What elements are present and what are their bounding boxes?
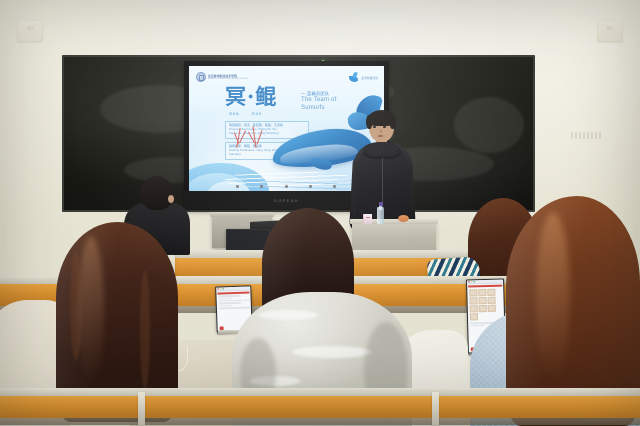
water-bottle[interactable]	[377, 202, 384, 224]
orange-object	[398, 215, 409, 222]
school-seal-icon	[196, 72, 206, 82]
slide-logo-left: 北京邮电职业技术学院 BEIJING COLLEGE OF MECHANICAL…	[196, 72, 248, 82]
desk-divider	[432, 392, 439, 426]
bottle-cap[interactable]	[379, 202, 383, 206]
student-mid-left-head	[140, 176, 174, 210]
wall-vent-icon	[565, 131, 607, 140]
wall-sign-right-label: 出口	[597, 26, 623, 30]
classroom-photo: 出口 出口 北京邮电职业技术学院 BEIJING C	[0, 0, 640, 426]
wall-sign-left-label: 出口	[17, 26, 43, 30]
slide-logo-right: 蓝海科教创新	[348, 72, 378, 83]
display-control-buttons[interactable]	[236, 184, 336, 189]
presenter-hood	[363, 142, 401, 159]
presenter-mouth	[378, 135, 383, 137]
desk-row-3	[0, 388, 640, 426]
whale-logo-icon	[348, 72, 359, 83]
student-mid-left-ear	[168, 195, 174, 203]
romaji-first: Sea	[229, 111, 239, 116]
display-brand-label: GOPEAK	[274, 198, 299, 203]
wall-sign-right: 出口	[597, 20, 623, 42]
teacher-podium-surface	[210, 212, 274, 217]
coral-illustration	[234, 124, 268, 152]
desk-divider	[138, 392, 145, 426]
school-name-en: BEIJING COLLEGE OF MECHANICAL INDUSTRY	[208, 78, 248, 80]
wall-sign-left: 出口	[17, 20, 43, 42]
sponsor-name-cn: 蓝海科教创新	[361, 76, 378, 80]
pink-box[interactable]	[363, 214, 372, 224]
romaji-second: Kun	[252, 111, 262, 116]
